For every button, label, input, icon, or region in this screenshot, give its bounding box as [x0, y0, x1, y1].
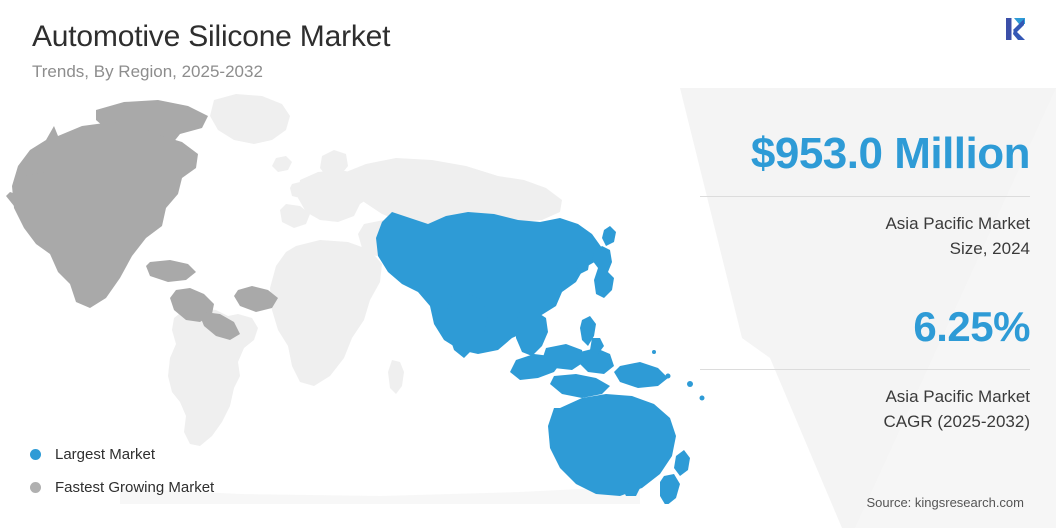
stat-divider — [700, 196, 1030, 197]
legend-item-label: Largest Market — [55, 446, 155, 463]
stat-divider — [700, 369, 1030, 370]
stat-caption-line2: CAGR (2025-2032) — [700, 409, 1030, 434]
stat-caption-line1: Asia Pacific Market — [700, 384, 1030, 409]
page-subtitle: Trends, By Region, 2025-2032 — [32, 60, 652, 84]
stat-value-market-size: $953.0 Million — [700, 128, 1030, 180]
stat-caption-market-size: Asia Pacific Market Size, 2024 — [700, 211, 1030, 261]
stat-block-cagr: 6.25% Asia Pacific Market CAGR (2025-203… — [700, 301, 1030, 434]
legend-item-label: Fastest Growing Market — [55, 479, 214, 496]
stat-caption-line2: Size, 2024 — [700, 236, 1030, 261]
header: Automotive Silicone Market Trends, By Re… — [32, 18, 652, 84]
page-title: Automotive Silicone Market — [32, 18, 652, 56]
infographic-root: Automotive Silicone Market Trends, By Re… — [0, 0, 1056, 528]
stat-caption-cagr: Asia Pacific Market CAGR (2025-2032) — [700, 384, 1030, 434]
stats-panel: $953.0 Million Asia Pacific Market Size,… — [700, 128, 1030, 434]
stat-caption-line1: Asia Pacific Market — [700, 211, 1030, 236]
map-legend: Largest Market Fastest Growing Market — [30, 438, 214, 504]
legend-dot-icon — [30, 449, 41, 460]
legend-item-largest-market[interactable]: Largest Market — [30, 438, 214, 471]
stat-value-cagr: 6.25% — [700, 301, 1030, 353]
source-text: Source: kingsresearch.com — [866, 495, 1024, 510]
kings-research-logo-icon[interactable] — [1000, 12, 1034, 46]
legend-dot-icon — [30, 482, 41, 493]
stat-block-market-size: $953.0 Million Asia Pacific Market Size,… — [700, 128, 1030, 261]
legend-item-fastest-growing-market[interactable]: Fastest Growing Market — [30, 471, 214, 504]
map-region-asia-pacific — [376, 212, 705, 504]
